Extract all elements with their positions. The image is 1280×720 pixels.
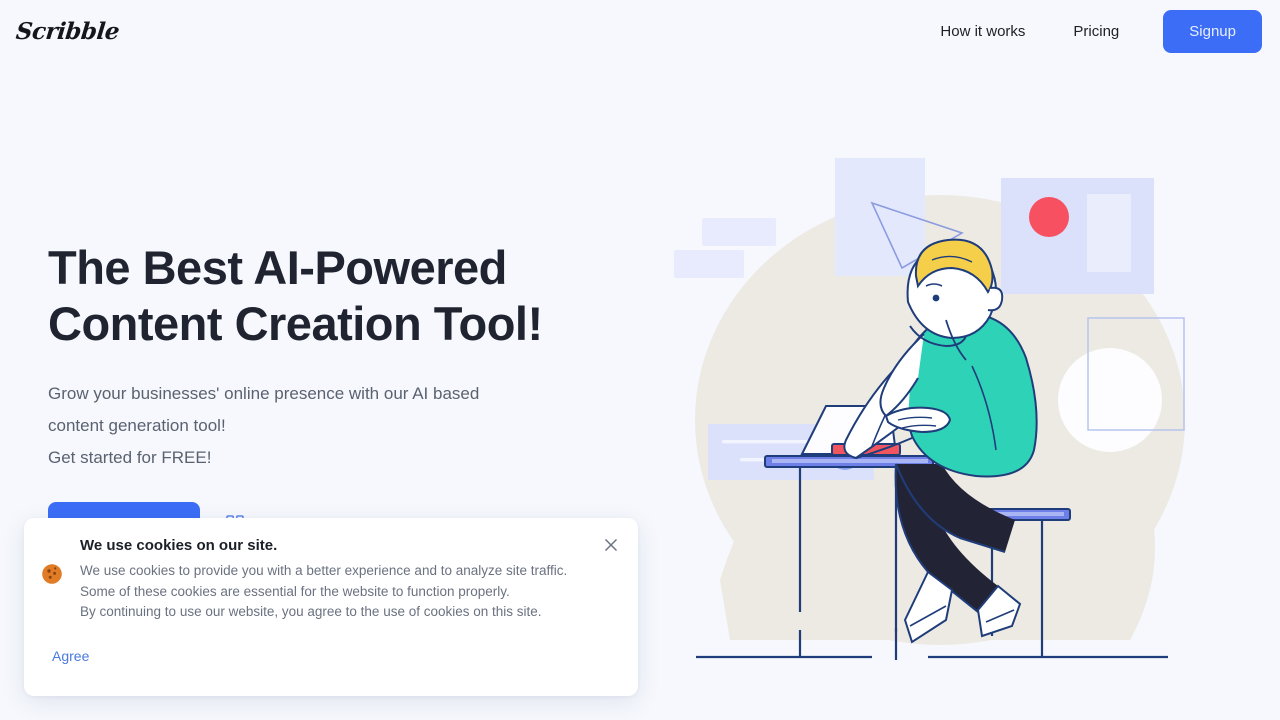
hero-title-line-1: The Best AI-Powered — [48, 241, 507, 294]
nav-item-how-it-works[interactable]: How it works — [916, 13, 1049, 50]
hero-sub-line-1: Grow your businesses' online presence wi… — [48, 384, 479, 403]
close-icon[interactable] — [600, 534, 622, 556]
cookie-banner-body: We use cookies to provide you with a bet… — [80, 561, 600, 623]
hero-subtitle: Grow your businesses' online presence wi… — [48, 378, 648, 474]
hero-sub-line-3: Get started for FREE! — [48, 448, 211, 467]
hero-illustration — [660, 120, 1220, 680]
cookie-agree-button[interactable]: Agree — [52, 648, 89, 664]
cookie-body-line-1: We use cookies to provide you with a bet… — [80, 563, 567, 578]
header-signup-button[interactable]: Signup — [1163, 10, 1262, 53]
hero-title-line-2: Content Creation Tool! — [48, 297, 543, 350]
site-header: Scribble How it works Pricing Signup — [0, 0, 1280, 62]
cookie-banner-title: We use cookies on our site. — [80, 537, 277, 554]
hero-section: The Best AI-Powered Content Creation Too… — [48, 240, 648, 549]
hero-sub-line-2: content generation tool! — [48, 416, 226, 435]
cookie-body-line-3: By continuing to use our website, you ag… — [80, 604, 542, 619]
site-logo[interactable]: Scribble — [15, 18, 121, 45]
page-title: The Best AI-Powered Content Creation Too… — [48, 240, 648, 352]
main-navigation: How it works Pricing Signup — [916, 10, 1262, 53]
landing-page: Scribble How it works Pricing Signup The… — [0, 0, 1280, 720]
nav-item-pricing[interactable]: Pricing — [1049, 13, 1143, 50]
cookie-body-line-2: Some of these cookies are essential for … — [80, 584, 510, 599]
cookie-icon — [40, 562, 64, 591]
